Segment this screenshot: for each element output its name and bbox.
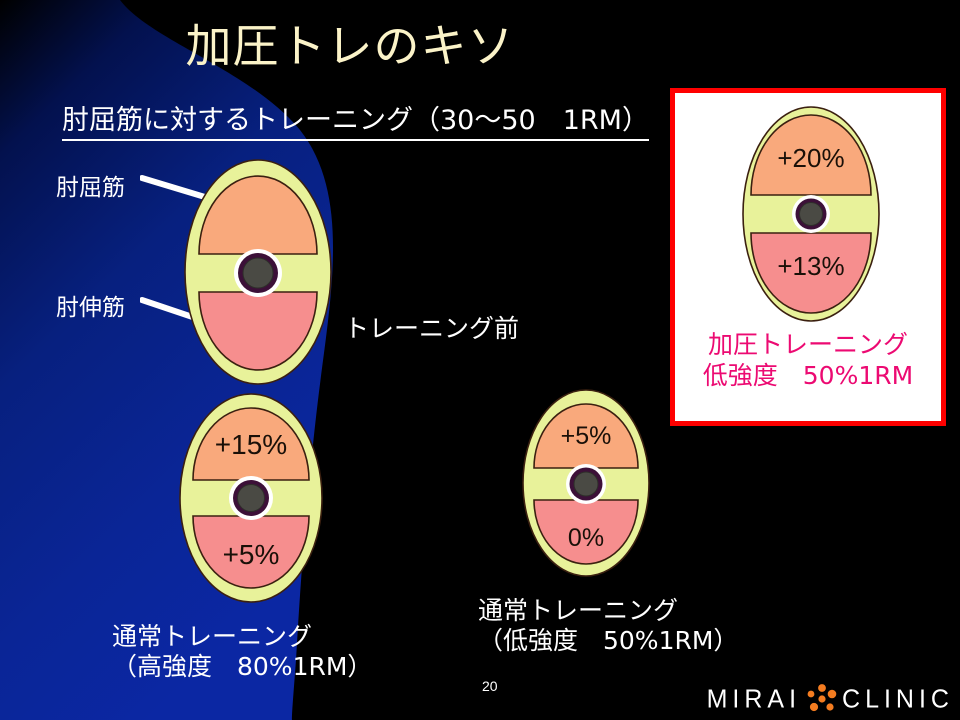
extensor-percent: 0% (568, 524, 604, 552)
flexor-percent: +5% (561, 422, 612, 450)
label-elbow-extensor: 肘伸筋 (56, 288, 125, 322)
diagram-normal-high-intensity: +15% +5% (176, 392, 326, 604)
page-number: 20 (482, 678, 498, 694)
flexor-percent: +20% (777, 143, 844, 173)
diagram-kaatsu-low-intensity: +20% +13% (737, 105, 885, 323)
bone-core (238, 485, 265, 512)
caption-line-1: 加圧トレーニング (675, 329, 941, 360)
caption-before-training: トレーニング前 (344, 314, 519, 344)
caption-line-2: 低強度 50%1RM (675, 360, 941, 391)
caption-line-1: 通常トレーニング (478, 596, 738, 626)
extensor-percent: +5% (223, 539, 280, 570)
caption-normal-low-intensity: 通常トレーニング （低強度 50%1RM） (478, 596, 738, 656)
kaatsu-highlight-panel: +20% +13% 加圧トレーニング 低強度 50%1RM (670, 88, 946, 426)
extensor-percent: +13% (777, 251, 844, 281)
diagram-normal-low-intensity: +5% 0% (518, 388, 654, 578)
caption-kaatsu-training: 加圧トレーニング 低強度 50%1RM (675, 329, 941, 392)
flower-dots-icon (805, 684, 839, 714)
caption-normal-high-intensity: 通常トレーニング （高強度 80%1RM） (112, 622, 372, 682)
caption-line-2: （高強度 80%1RM） (112, 652, 372, 682)
bone-core (243, 258, 273, 288)
slide-subtitle: 肘屈筋に対するトレーニング（30～50 1RM） (62, 105, 649, 141)
logo-word-clinic: CLINIC (842, 684, 954, 714)
diagram-before-training (183, 158, 333, 386)
logo-word-mirai: MIRAI (707, 684, 801, 714)
bone-core (574, 472, 598, 496)
slide-title: 加圧トレのキソ (0, 22, 700, 70)
caption-line-2: （低強度 50%1RM） (478, 626, 738, 656)
flexor-percent: +15% (215, 429, 287, 460)
mirai-clinic-logo: MIRAI CLINIC (707, 684, 954, 714)
bone-core (800, 203, 823, 226)
caption-line-1: 通常トレーニング (112, 622, 372, 652)
label-elbow-flexor: 肘屈筋 (56, 168, 125, 202)
slide-canvas: 加圧トレのキソ 肘屈筋に対するトレーニング（30～50 1RM） 肘屈筋 肘伸筋… (0, 0, 960, 720)
